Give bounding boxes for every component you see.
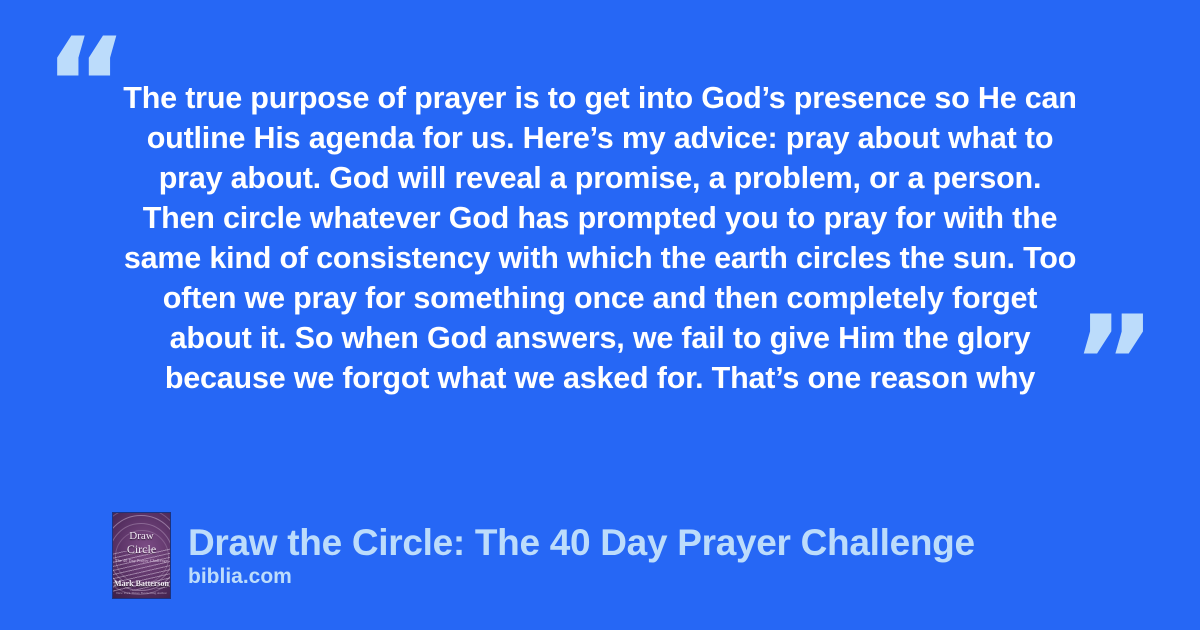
cover-tagline: New York Times Bestselling Author [113,591,170,595]
quote-text: The true purpose of prayer is to get int… [100,78,1100,398]
attribution-text: Draw the Circle: The 40 Day Prayer Chall… [188,522,975,589]
book-title: Draw the Circle: The 40 Day Prayer Chall… [188,522,975,564]
cover-subtitle: The 40 Day Prayer Challenge [113,558,170,563]
quote-line: often we pray for something once and the… [100,278,1100,318]
book-cover-thumbnail: Draw Circle The 40 Day Prayer Challenge … [113,513,170,598]
cover-title: Draw Circle [113,530,170,555]
site-url[interactable]: biblia.com [188,565,975,589]
cover-author: Mark Batterson [113,579,170,588]
cover-title-word-2: Circle [113,543,170,555]
quote-line: pray about. God will reveal a promise, a… [100,158,1100,198]
quote-line: about it. So when God answers, we fail t… [100,318,1100,358]
source-attribution: Draw Circle The 40 Day Prayer Challenge … [113,513,975,598]
quote-line: The true purpose of prayer is to get int… [100,78,1100,118]
quote-card: “ ” The true purpose of prayer is to get… [0,0,1200,630]
quote-line: because we forgot what we asked for. Tha… [100,358,1100,398]
quote-line: outline His agenda for us. Here’s my adv… [100,118,1100,158]
quote-line: same kind of consistency with which the … [100,238,1100,278]
cover-title-word-1: Draw [129,530,153,542]
quote-line: Then circle whatever God has prompted yo… [100,198,1100,238]
